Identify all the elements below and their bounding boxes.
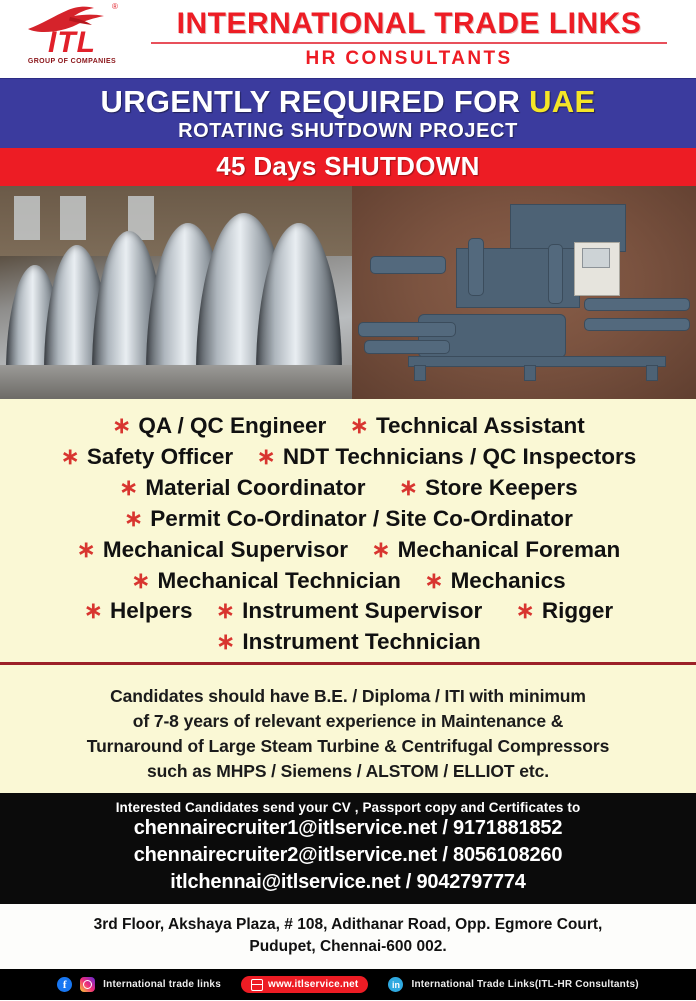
instagram-lens-icon <box>83 980 92 989</box>
job-line: ∗ Helpers ∗ Instrument Supervisor ∗ Rigg… <box>0 596 696 627</box>
job-title: Mechanics <box>451 568 566 593</box>
compressor-outlet-pipe <box>358 322 456 337</box>
job-title: Mechanical Technician <box>157 568 400 593</box>
job-title: Permit Co-Ordinator / Site Co-Ordinator <box>150 506 573 531</box>
job-line: ∗ Instrument Technician <box>0 627 696 658</box>
office-address: 3rd Floor, Akshaya Plaza, # 108, Adithan… <box>0 904 696 969</box>
logo-initials: ITL <box>24 28 120 58</box>
job-positions-list: ∗ QA / QC Engineer ∗ Technical Assistant… <box>0 399 696 675</box>
bullet-star-icon: ∗ <box>83 598 104 623</box>
shutdown-duration-text: 45 Days SHUTDOWN <box>216 151 479 181</box>
globe-icon <box>251 979 263 991</box>
skid-leg <box>524 365 536 381</box>
registered-mark: ® <box>112 2 118 11</box>
job-title: Helpers <box>110 598 193 623</box>
contact-email-phone[interactable]: chennairecruiter1@itlservice.net / 91718… <box>0 815 696 842</box>
recruitment-poster: ® ITL GROUP OF COMPANIES INTERNATIONAL T… <box>0 0 696 1001</box>
logo-subtitle: GROUP OF COMPANIES <box>24 58 120 65</box>
website-badge[interactable]: www.itlservice.net <box>241 976 369 993</box>
contact-email-phone[interactable]: chennairecruiter2@itlservice.net / 80561… <box>0 842 696 869</box>
turbine-base-platform <box>0 365 352 399</box>
qualification-line: such as MHPS / Siemens / ALSTOM / ELLIOT… <box>14 759 682 784</box>
company-tagline: HR CONSULTANTS <box>140 48 678 70</box>
job-title: NDT Technicians / QC Inspectors <box>283 444 636 469</box>
compressor-header-pipe <box>584 298 690 311</box>
photo-row <box>0 186 696 399</box>
address-line: Pudupet, Chennai-600 002. <box>10 936 686 958</box>
bullet-star-icon: ∗ <box>118 475 139 500</box>
qualification-line: Candidates should have B.E. / Diploma / … <box>14 684 682 709</box>
banner-headline: URGENTLY REQUIRED FOR UAE <box>0 85 696 118</box>
skid-leg <box>646 365 658 381</box>
instagram-icon[interactable] <box>80 977 95 992</box>
job-title: Technical Assistant <box>376 413 585 438</box>
bullet-star-icon: ∗ <box>215 629 236 654</box>
compressor-riser-pipe <box>548 244 563 304</box>
company-logo: ® ITL GROUP OF COMPANIES <box>0 0 140 78</box>
section-divider <box>0 662 696 665</box>
bullet-star-icon: ∗ <box>111 413 132 438</box>
website-url: www.itlservice.net <box>268 979 359 990</box>
steam-turbine-rotor-photo <box>0 186 352 399</box>
bullet-star-icon: ∗ <box>215 598 236 623</box>
facebook-icon[interactable]: f <box>57 977 72 992</box>
bullet-star-icon: ∗ <box>349 413 370 438</box>
skid-leg <box>414 365 426 381</box>
bullet-star-icon: ∗ <box>76 537 97 562</box>
banner-subheadline: ROTATING SHUTDOWN PROJECT <box>0 120 696 143</box>
poster-header: ® ITL GROUP OF COMPANIES INTERNATIONAL T… <box>0 0 696 78</box>
header-titles: INTERNATIONAL TRADE LINKS HR CONSULTANTS <box>140 8 696 70</box>
contact-email-phone[interactable]: itlchennai@itlservice.net / 9042797774 <box>0 869 696 896</box>
bullet-star-icon: ∗ <box>371 537 392 562</box>
banner-headline-prefix: URGENTLY REQUIRED FOR <box>101 84 521 119</box>
bullet-star-icon: ∗ <box>123 506 144 531</box>
job-title: Material Coordinator <box>145 475 365 500</box>
linkedin-icon[interactable]: in <box>388 977 403 992</box>
title-underline <box>151 42 667 44</box>
bullet-star-icon: ∗ <box>423 568 444 593</box>
job-title: Store Keepers <box>425 475 578 500</box>
job-title: Mechanical Foreman <box>398 537 621 562</box>
qualification-line: of 7-8 years of relevant experience in M… <box>14 709 682 734</box>
job-title: Mechanical Supervisor <box>103 537 348 562</box>
job-title: Rigger <box>542 598 613 623</box>
job-line: ∗ Permit Co-Ordinator / Site Co-Ordinato… <box>0 504 696 535</box>
bullet-star-icon: ∗ <box>60 444 81 469</box>
compressor-outlet-pipe <box>364 340 450 354</box>
bullet-star-icon: ∗ <box>515 598 536 623</box>
compressor-riser-pipe <box>468 238 484 296</box>
bullet-star-icon: ∗ <box>398 475 419 500</box>
workshop-window <box>60 196 86 240</box>
qualifications-section: Candidates should have B.E. / Diploma / … <box>0 675 696 793</box>
qualification-line: Turnaround of Large Steam Turbine & Cent… <box>14 734 682 759</box>
job-line: ∗ Safety Officer ∗ NDT Technicians / QC … <box>0 442 696 473</box>
contact-section: Interested Candidates send your CV , Pas… <box>0 793 696 904</box>
banner-headline-country: UAE <box>529 84 595 119</box>
centrifugal-compressor-photo <box>352 186 696 399</box>
compressor-inlet-pipe <box>370 256 446 274</box>
linkedin-handle: International Trade Links(ITL-HR Consult… <box>411 979 638 990</box>
job-title: Instrument Supervisor <box>242 598 482 623</box>
job-title: QA / QC Engineer <box>138 413 326 438</box>
job-line: ∗ QA / QC Engineer ∗ Technical Assistant <box>0 411 696 442</box>
job-line: ∗ Mechanical Supervisor ∗ Mechanical For… <box>0 535 696 566</box>
job-line: ∗ Material Coordinator ∗ Store Keepers <box>0 473 696 504</box>
compressor-header-pipe <box>584 318 690 331</box>
job-title: Safety Officer <box>87 444 233 469</box>
company-name: INTERNATIONAL TRADE LINKS <box>140 8 678 40</box>
bullet-star-icon: ∗ <box>130 568 151 593</box>
address-line: 3rd Floor, Akshaya Plaza, # 108, Adithan… <box>10 914 686 936</box>
job-line: ∗ Mechanical Technician ∗ Mechanics <box>0 566 696 597</box>
contact-instructions: Interested Candidates send your CV , Pas… <box>0 800 696 815</box>
compressor-skid-frame <box>408 356 666 367</box>
job-title: Instrument Technician <box>242 629 480 654</box>
urgent-banner: URGENTLY REQUIRED FOR UAE ROTATING SHUTD… <box>0 78 696 148</box>
workshop-window <box>14 196 40 240</box>
control-panel-display <box>582 248 610 268</box>
bullet-star-icon: ∗ <box>256 444 277 469</box>
social-footer: f International trade links www.itlservi… <box>0 969 696 1000</box>
shutdown-duration-band: 45 Days SHUTDOWN <box>0 148 696 186</box>
social-handle: International trade links <box>103 979 221 990</box>
